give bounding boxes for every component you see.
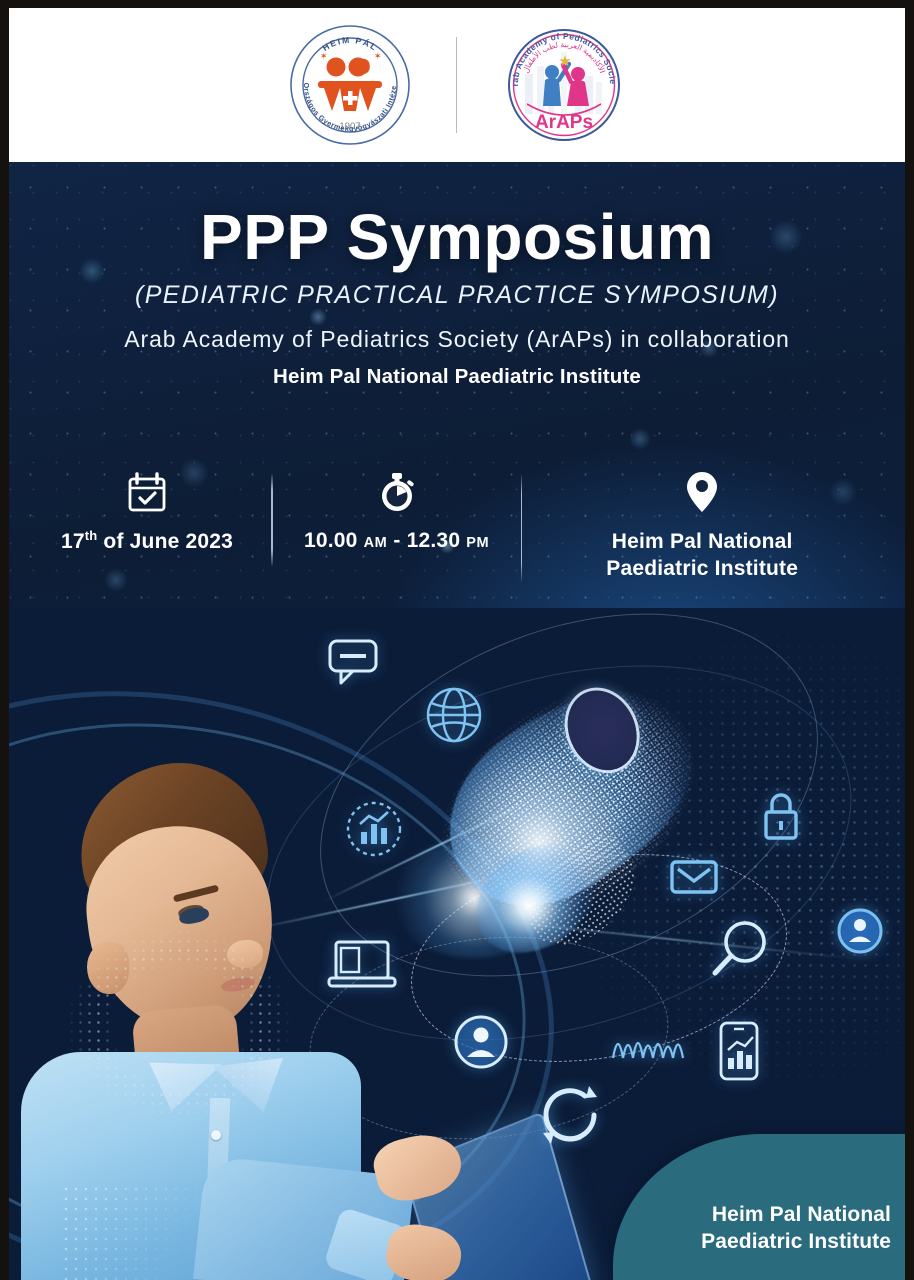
event-date-day: 17: [61, 530, 85, 553]
event-info-row: 17th of June 2023 10.00: [23, 470, 891, 584]
location-pin-icon: [685, 470, 719, 514]
organizer-line: Arab Academy of Pediatrics Society (ArAP…: [9, 326, 905, 353]
event-date-text: 17th of June 2023: [61, 528, 233, 555]
event-time-end: 12.30: [407, 529, 461, 552]
event-venue-line1: Heim Pal National: [606, 528, 798, 555]
event-time-start: 10.00: [304, 529, 358, 552]
laptop-icon: [327, 938, 397, 999]
page-subtitle: (PEDIATRIC PRACTICAL PRACTICE SYMPOSIUM): [9, 281, 905, 310]
calendar-check-icon: [127, 470, 167, 514]
footer-line-1: Heim Pal National: [701, 1202, 891, 1229]
user-download-icon: [837, 908, 883, 959]
headline-block: PPP Symposium (PEDIATRIC PRACTICAL PRACT…: [9, 204, 905, 389]
event-time-separator: -: [393, 529, 400, 552]
heim-pal-logo: ✶ ✶ 1907 HEIM PÁL Országos Gyermekgyógyá…: [288, 23, 412, 147]
event-time-start-meridiem: AM: [364, 535, 388, 551]
event-venue-line2: Paediatric Institute: [606, 555, 798, 582]
host-line: Heim Pal National Paediatric Institute: [9, 365, 905, 389]
user-circle-icon: [453, 1014, 509, 1075]
svg-text:✶: ✶: [374, 51, 382, 61]
globe-icon: [425, 686, 483, 749]
footer-institute-name: Heim Pal National Paediatric Institute: [701, 1202, 891, 1256]
lock-icon: [761, 790, 801, 847]
head-halftone-aura: [49, 910, 309, 1140]
araps-logo: ★ ArAPs Arab Academy of Pediatrics Socie…: [501, 22, 627, 148]
event-venue-text: Heim Pal National Paediatric Institute: [606, 528, 798, 583]
event-time-end-meridiem: PM: [466, 535, 489, 551]
refresh-circle-icon: [537, 1082, 603, 1153]
envelope-icon: [669, 858, 719, 901]
magnifier-icon: [707, 918, 771, 987]
event-date-suffix: th: [85, 528, 98, 543]
chat-bubble-icon: [327, 638, 379, 691]
sound-wave-icon: [609, 1024, 695, 1069]
page-title: PPP Symposium: [9, 204, 905, 271]
shoulder-halftone: [61, 1184, 221, 1280]
poster-frame: PPP Symposium (PEDIATRIC PRACTICAL PRACT…: [0, 0, 914, 1280]
event-date-rest: of June 2023: [97, 530, 233, 553]
logo-header: ✶ ✶ 1907 HEIM PÁL Országos Gyermekgyógyá…: [9, 8, 905, 162]
logo-divider: [456, 37, 457, 133]
info-cell-time: 10.00 AM - 12.30 PM: [273, 470, 521, 554]
bar-chart-circle-icon: [345, 800, 403, 863]
info-cell-date: 17th of June 2023: [23, 470, 271, 555]
footer-line-2: Paediatric Institute: [701, 1229, 891, 1256]
stopwatch-icon: [377, 470, 417, 514]
mobile-chart-icon: [717, 1020, 761, 1087]
event-time-text: 10.00 AM - 12.30 PM: [304, 528, 489, 554]
svg-text:ArAPs: ArAPs: [534, 112, 592, 133]
poster-canvas: PPP Symposium (PEDIATRIC PRACTICAL PRACT…: [9, 8, 905, 1280]
svg-text:★: ★: [558, 53, 571, 70]
info-cell-venue: Heim Pal National Paediatric Institute: [522, 470, 882, 583]
